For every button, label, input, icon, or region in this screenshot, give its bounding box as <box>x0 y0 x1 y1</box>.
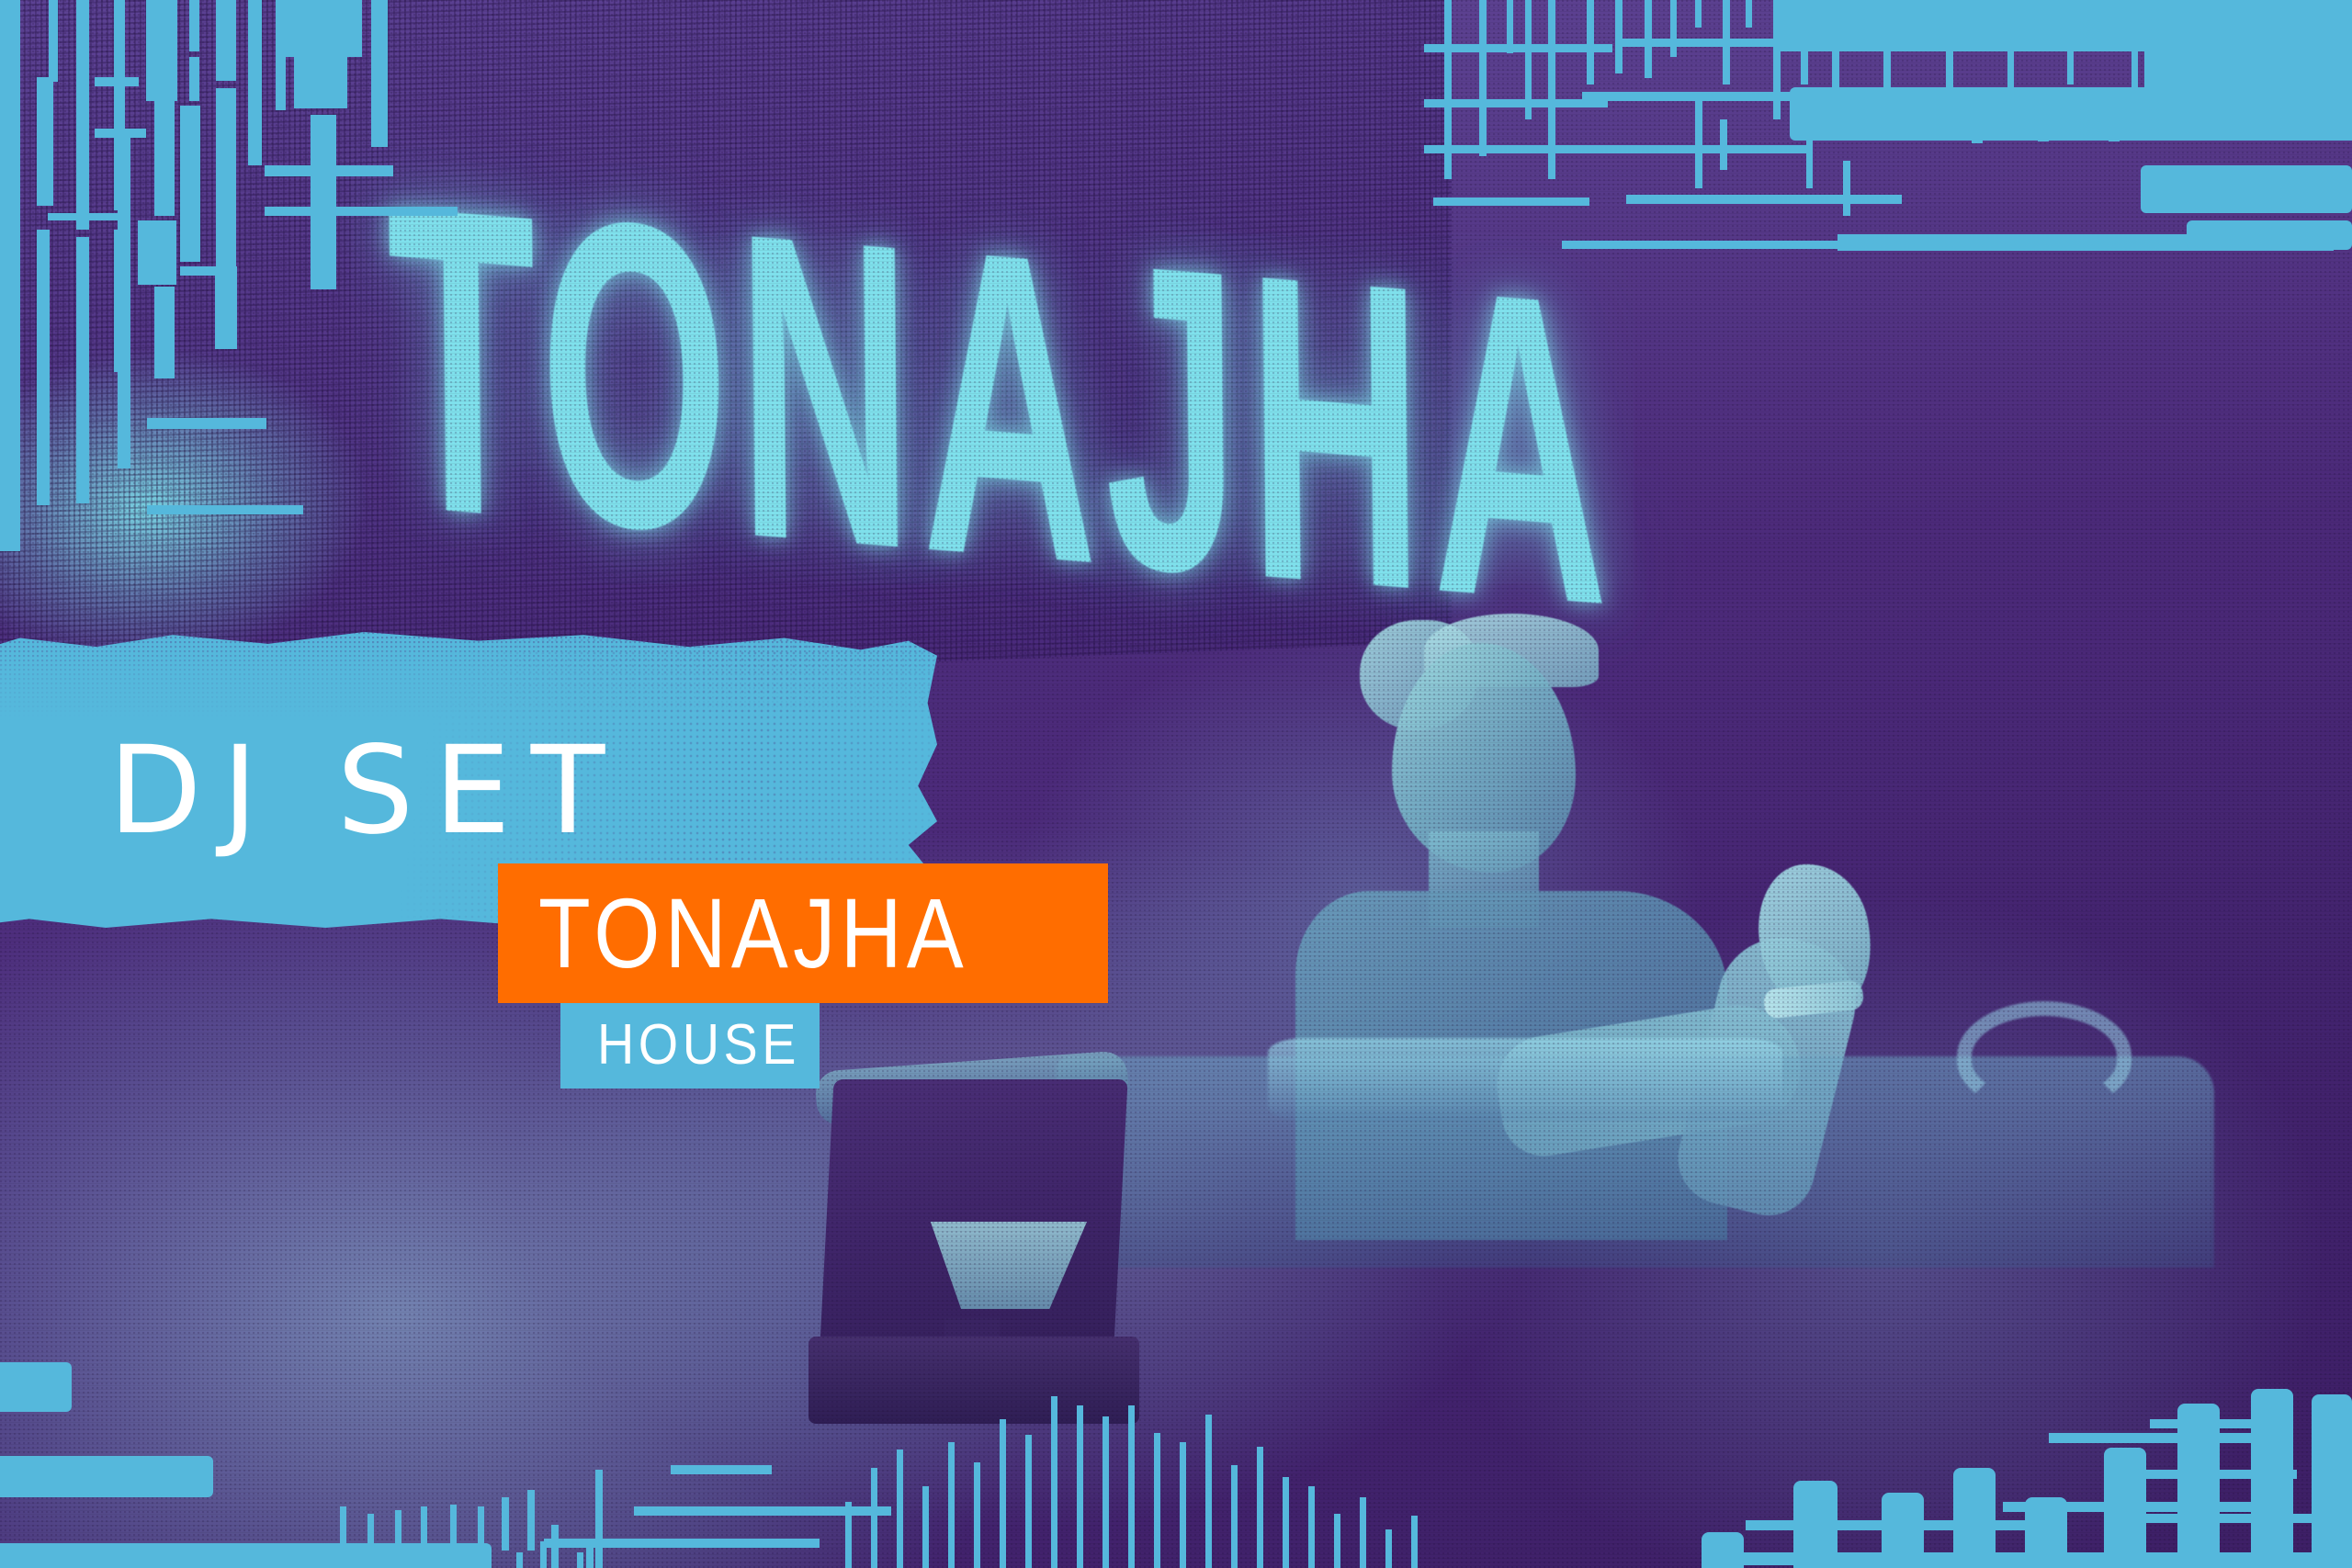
genre-label: HOUSE <box>597 1014 800 1077</box>
dj-set-title: DJ SET <box>108 720 625 862</box>
artist-name-label: TONAJHA <box>538 880 968 987</box>
headphones-icon <box>1957 1001 2131 1111</box>
fixture-base <box>808 1337 1139 1424</box>
genre-badge: HOUSE <box>560 1003 820 1089</box>
led-headline-wordmark: TONAJHA <box>386 161 2249 641</box>
poster-canvas: TONAJHA <box>0 0 2352 1568</box>
artist-name-badge: TONAJHA <box>498 863 1108 1003</box>
stage-light-fixture <box>808 1061 1139 1428</box>
dj-mixer-deck <box>1268 1038 1782 1121</box>
